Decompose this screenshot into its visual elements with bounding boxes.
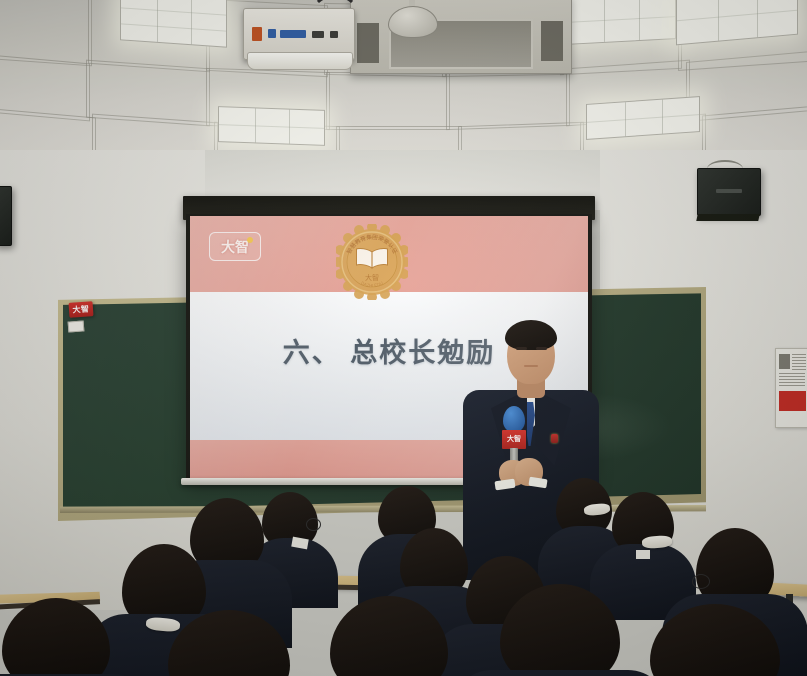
speaker-base — [696, 214, 759, 221]
ceiling-light-panel — [120, 0, 227, 48]
board-corner-logo: 大智 — [69, 301, 94, 318]
presenter-lapel-pin — [551, 434, 558, 443]
wall-speaker-right — [697, 168, 761, 216]
wall-speaker-left — [0, 186, 12, 246]
projector-lens-housing — [247, 52, 353, 70]
presenter-hair — [505, 320, 557, 350]
presenter-eye-right — [536, 347, 547, 350]
slide-brand-logo: 大智 — [209, 232, 261, 261]
ceiling-light-panel — [218, 106, 325, 146]
svg-text:大智: 大智 — [365, 273, 379, 282]
presenter-mouth — [524, 365, 538, 367]
air-conditioner-unit — [350, 0, 572, 74]
eyeglasses-icon — [692, 574, 710, 589]
slide-brand-logo-text: 大智 — [221, 240, 249, 254]
ac-vent-left — [357, 23, 379, 63]
ac-vent-right — [541, 21, 563, 61]
wall-poster — [775, 348, 807, 428]
eyeglasses-icon — [306, 518, 321, 531]
microphone-flag-text: 大智 — [507, 436, 521, 443]
microphone-flag: 大智 — [502, 430, 526, 449]
ceiling-light-panel — [566, 0, 676, 45]
board-corner-label — [68, 320, 85, 332]
microphone-windscreen — [503, 406, 525, 432]
logo-dot-icon — [247, 237, 253, 243]
gold-seal-emblem: 智慧教育集团荣誉认证 大智 DAZHI EDU — [336, 224, 408, 300]
dome-speaker — [388, 6, 438, 38]
classroom-scene: 大智 大智 — [0, 0, 807, 676]
board-corner-logo-text: 大智 — [72, 305, 90, 314]
poster-red-banner — [779, 391, 806, 411]
seal-svg: 智慧教育集团荣誉认证 大智 DAZHI EDU — [336, 224, 408, 300]
presenter-eye-left — [516, 347, 527, 350]
